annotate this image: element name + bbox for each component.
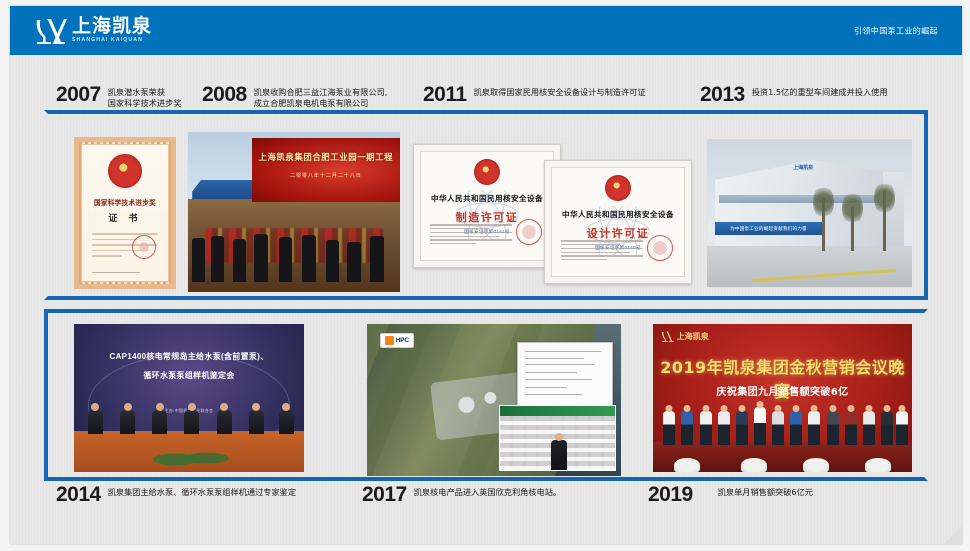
timeline-entry-2017: 2017 凯泉核电产品进入英国欣克利角核电站。 xyxy=(362,484,561,505)
guest xyxy=(663,411,675,445)
timeline-entry-2007: 2007 凯泉潜水泵荣获 国家科学技术进步奖 xyxy=(56,84,181,109)
red-seal-icon xyxy=(132,235,156,259)
year-label-2014: 2014 xyxy=(56,484,101,505)
guest xyxy=(736,411,748,445)
guest xyxy=(681,411,693,445)
banquet-table xyxy=(803,458,829,472)
attendee xyxy=(192,238,205,282)
attendee xyxy=(211,236,224,282)
photo-national-award-certificate: 国家科学技术进步奖 证 书 xyxy=(74,137,176,289)
year-desc-2019: 凯泉单月销售额突破6亿元 xyxy=(700,484,813,498)
attendee xyxy=(279,237,292,282)
red-seal-icon xyxy=(647,235,673,261)
wall-header-band xyxy=(500,406,615,416)
factory-logo-text: 上海凯泉 xyxy=(793,164,813,171)
hpc-logo-badge: HPC xyxy=(380,333,414,348)
ceremony-banner: 上海凯泉集团合肥工业园一期工程 二零零八年十二月二十八日 xyxy=(252,138,400,202)
year-label-2017: 2017 xyxy=(362,484,407,505)
panelist xyxy=(120,410,135,434)
photo-cap1400-appraisal-conference: CAP1400核电常规岛主给水泵(含前置泵)、 循环水泵泵组样机鉴定会 主办:中… xyxy=(74,324,304,472)
year-label-2008: 2008 xyxy=(202,84,247,105)
guest xyxy=(718,411,730,445)
guest xyxy=(772,411,784,445)
certificate-title: 国家科学技术进步奖 xyxy=(94,197,156,207)
year-desc-2013: 投资1.5亿的重型车间建成并投入使用 xyxy=(752,84,888,98)
signage-wall-photo-overlay xyxy=(499,405,616,472)
timeline-entry-2014: 2014 凯泉集团主给水泵、循环水泵泵组样机通过专家鉴定 xyxy=(56,484,296,505)
panelist xyxy=(88,410,103,434)
tree xyxy=(822,197,825,251)
panelist xyxy=(279,410,294,434)
year-desc-2008: 凯泉收购合肥三益江海泵业有限公司, 成立合肥凯泉电机电泵有限公司 xyxy=(254,84,388,109)
photo-groundbreaking-ceremony: 上海凯泉集团合肥工业园一期工程 二零零八年十二月二十八日 xyxy=(188,132,400,292)
banquet-table xyxy=(674,458,700,472)
banquet-table xyxy=(741,458,767,472)
year-desc-2007: 凯泉潜水泵荣获 国家科学技术进步奖 xyxy=(108,84,182,109)
guest xyxy=(827,411,839,445)
certificate-subtitle: 证 书 xyxy=(108,211,141,224)
year-label-2019: 2019 xyxy=(648,484,693,505)
panelist xyxy=(217,410,232,434)
guest xyxy=(863,411,875,445)
guest xyxy=(754,407,766,445)
attendee xyxy=(233,239,246,282)
year-label-2013: 2013 xyxy=(700,84,745,105)
photo-heavy-workshop-factory: 上海凯泉 为中国泵工业的崛起贡献我们的力量 xyxy=(707,139,912,287)
page-corner-decoration xyxy=(944,526,962,544)
kaiquan-logo-icon xyxy=(661,330,675,343)
ceremony-banner-date: 二零零八年十二月二十八日 xyxy=(252,172,400,179)
banquet-table xyxy=(865,458,891,472)
certificate-body: 国家科学技术进步奖 证 书 xyxy=(81,144,169,282)
banquet-subtitle: 庆祝集团九月销售额突破6亿 xyxy=(653,383,912,398)
timeline-entry-2008: 2008 凯泉收购合肥三益江海泵业有限公司, 成立合肥凯泉电机电泵有限公司 xyxy=(202,84,387,109)
guest xyxy=(881,411,893,445)
attendee xyxy=(347,242,361,282)
attendee xyxy=(254,234,268,282)
factory-slogan-banner: 为中国泵工业的崛起贡献我们的力量 xyxy=(715,222,822,235)
contract-document-overlay xyxy=(517,342,614,406)
year-desc-2014: 凯泉集团主给水泵、循环水泵泵组样机通过专家鉴定 xyxy=(108,484,296,498)
timeline-entry-2013: 2013 投资1.5亿的重型车间建成并投入使用 xyxy=(700,84,888,105)
year-label-2011: 2011 xyxy=(423,84,467,105)
panelist xyxy=(249,410,264,434)
national-emblem-icon xyxy=(605,175,631,201)
photo-nuclear-manufacture-license: 中华人民共和国民用核安全设备 制造许可证 国核安证字第0141号 xyxy=(413,144,561,268)
national-emblem-icon xyxy=(474,159,500,185)
banquet-logo-text: 上海凯泉 xyxy=(677,331,709,342)
guest xyxy=(845,411,857,445)
logo-english-name: SHANGHAI KAIQUAN xyxy=(72,38,152,43)
attendee xyxy=(326,240,339,282)
factory-slogan-text: 为中国泵工业的崛起贡献我们的力量 xyxy=(730,226,807,232)
red-seal-icon xyxy=(516,219,542,245)
panelist xyxy=(184,410,199,434)
photo-hinkley-point-c-station: HPC xyxy=(367,324,621,476)
guest xyxy=(700,411,712,445)
national-emblem-icon xyxy=(108,154,142,188)
tree xyxy=(883,191,886,251)
certificate-serial-line xyxy=(92,272,140,274)
timeline-entry-2011: 2011 凯泉取得国家民用核安全设备设计与制造许可证 xyxy=(423,84,646,105)
panelist xyxy=(152,410,167,434)
license-body: 中华人民共和国民用核安全设备 制造许可证 国核安证字第0141号 xyxy=(420,151,554,261)
license-detail-lines xyxy=(430,224,512,247)
representative-person xyxy=(551,440,567,470)
hpc-mark-icon xyxy=(385,336,394,345)
attendee xyxy=(370,236,384,282)
photo-nuclear-design-license: 中华人民共和国民用核安全设备 设计许可证 国核安证字第0140号 xyxy=(544,160,692,284)
conference-title-line2: 循环水泵泵组样机鉴定会 xyxy=(74,370,304,381)
slide-canvas: 上海凯泉 SHANGHAI KAIQUAN 引领中国泵工业的崛起 2007 凯泉… xyxy=(10,6,962,544)
license-detail-lines xyxy=(561,240,643,263)
guest xyxy=(896,411,908,445)
tree xyxy=(851,207,854,251)
timeline-row-bottom: 2014 凯泉集团主给水泵、循环水泵泵组样机通过专家鉴定 2017 凯泉核电产品… xyxy=(10,6,962,32)
stage-plants xyxy=(152,445,230,469)
guest xyxy=(790,411,802,445)
ceremony-banner-title: 上海凯泉集团合肥工业园一期工程 xyxy=(252,151,400,163)
hpc-badge-label: HPC xyxy=(396,337,409,344)
guest xyxy=(808,411,820,445)
photo-2019-autumn-banquet: 上海凯泉 2019年凯泉集团金秋营销会议晚宴 庆祝集团九月销售额突破6亿 xyxy=(653,324,912,472)
conference-title-line1: CAP1400核电常规岛主给水泵(含前置泵)、 xyxy=(74,351,304,362)
year-desc-2011: 凯泉取得国家民用核安全设备设计与制造许可证 xyxy=(474,84,646,98)
banquet-logo: 上海凯泉 xyxy=(661,330,709,343)
attendee xyxy=(302,235,316,282)
license-body: 中华人民共和国民用核安全设备 设计许可证 国核安证字第0140号 xyxy=(551,167,685,277)
year-label-2007: 2007 xyxy=(56,84,101,105)
timeline-entry-2019: 2019 凯泉单月销售额突破6亿元 xyxy=(648,484,813,505)
year-desc-2017: 凯泉核电产品进入英国欣克利角核电站。 xyxy=(414,484,561,498)
factory-road xyxy=(707,246,912,287)
